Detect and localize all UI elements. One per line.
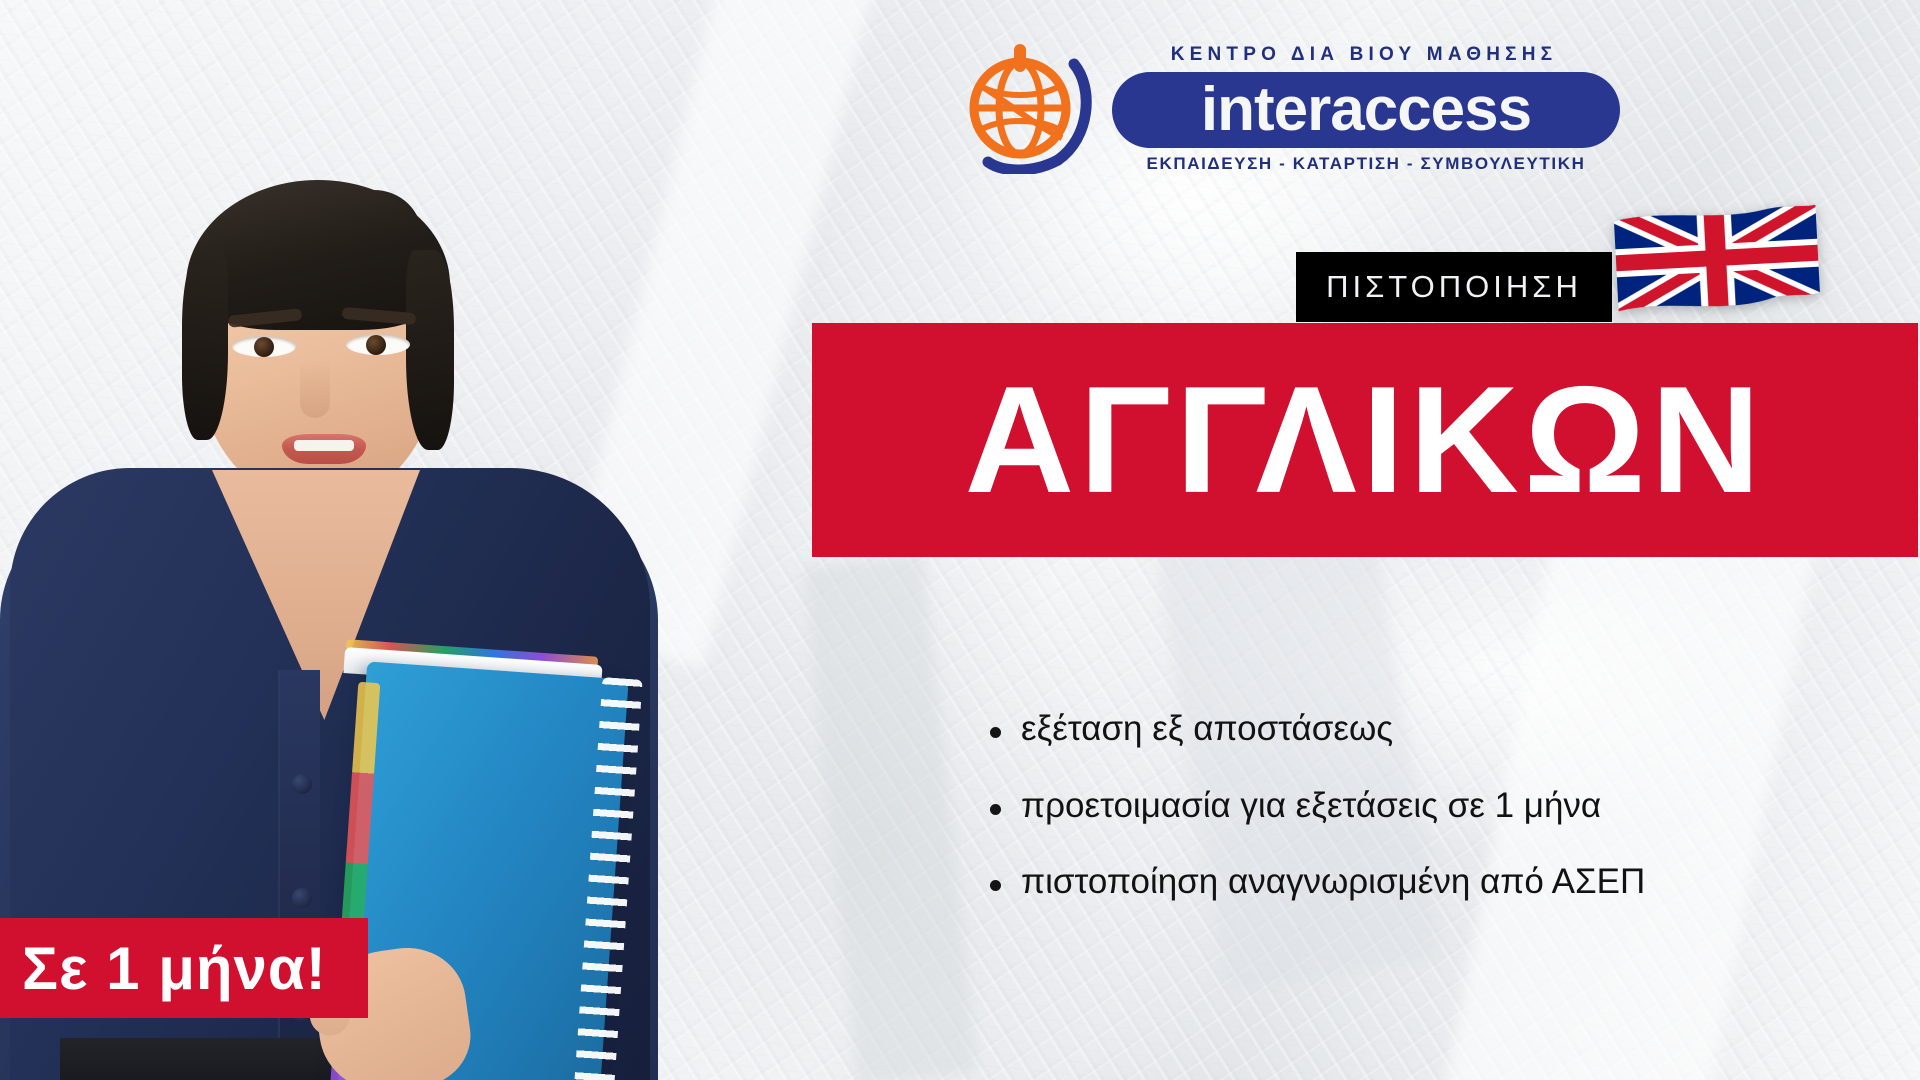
bullet-icon [990, 727, 1001, 738]
hero-title-banner: ΑΓΓΛΙΚΩΝ [812, 323, 1918, 557]
hair-side-left [182, 250, 228, 440]
list-item: προετοιμασία για εξετάσεις σε 1 μήνα [990, 785, 1810, 828]
bullet-icon [990, 804, 1001, 815]
teeth [294, 440, 354, 451]
list-item: πιστοποίηση αναγνωρισμένη από ΑΣΕΠ [990, 861, 1810, 904]
brand-logo[interactable]: ΚΕΝΤΡΟ ΔΙΑ ΒΙΟΥ ΜΑΘΗΣΗΣ interaccess ΕΚΠΑ… [962, 28, 1622, 188]
blouse-button [292, 888, 312, 908]
logo-tagline-top: ΚΕΝΤΡΟ ΔΙΑ ΒΙΟΥ ΜΑΘΗΣΗΣ [1114, 44, 1614, 66]
iris-left [254, 337, 274, 357]
feature-text: εξέταση εξ αποστάσεως [1021, 708, 1393, 751]
certification-badge: ΠΙΣΤΟΠΟΙΗΣΗ [1296, 252, 1612, 322]
bullet-icon [990, 880, 1001, 891]
promo-badge: Σε 1 μήνα! [0, 918, 368, 1018]
certification-badge-label: ΠΙΣΤΟΠΟΙΗΣΗ [1326, 269, 1582, 305]
nose [300, 360, 330, 418]
feature-list: εξέταση εξ αποστάσεως προετοιμασία για ε… [990, 708, 1810, 938]
feature-text: πιστοποίηση αναγνωρισμένη από ΑΣΕΠ [1021, 861, 1645, 904]
blouse-button [292, 774, 312, 794]
hero-title: ΑΓΓΛΙΚΩΝ [965, 364, 1766, 516]
iris-right [366, 335, 386, 355]
logo-tagline-bottom: ΕΚΠΑΙΔΕΥΣΗ - ΚΑΤΑΡΤΙΣΗ - ΣΥΜΒΟΥΛΕΥΤΙΚΗ [1112, 154, 1620, 174]
promo-banner: ΚΕΝΤΡΟ ΔΙΑ ΒΙΟΥ ΜΑΘΗΣΗΣ interaccess ΕΚΠΑ… [0, 0, 1920, 1080]
feature-text: προετοιμασία για εξετάσεις σε 1 μήνα [1021, 785, 1601, 828]
globe-icon [962, 42, 1094, 174]
hair-side-right [406, 250, 454, 450]
list-item: εξέταση εξ αποστάσεως [990, 708, 1810, 751]
logo-wordmark: interaccess [1112, 72, 1620, 148]
promo-label: Σε 1 μήνα! [0, 934, 327, 1003]
uk-flag-icon [1613, 201, 1820, 315]
